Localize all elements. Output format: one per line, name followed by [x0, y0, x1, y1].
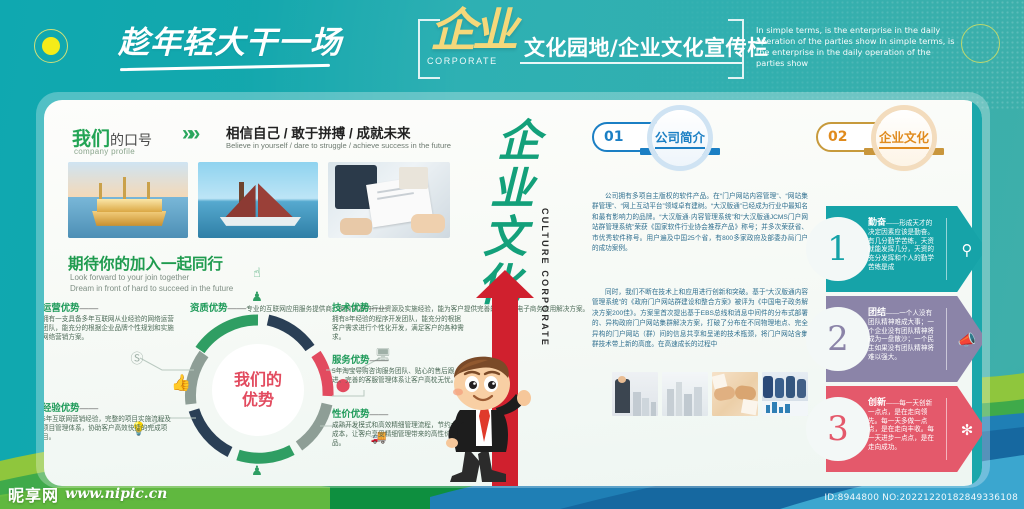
culture-body-2: 一个人没有团队精神难成大事；一个企业没有团队精神将成为一盘散沙；一个民主如果没有…: [868, 310, 934, 361]
chevron-right-icon: »»: [182, 122, 195, 146]
culture-body-1: 形成天才的决定因素应该是勤奋。有几分勤学苦练，天资就能发挥几分，天资的充分发挥和…: [868, 220, 934, 271]
handshake-photo: [712, 372, 758, 416]
advantages-center-label: 我们的 优势: [212, 344, 304, 436]
expect-subtitle: Look forward to your join together Dream…: [70, 272, 233, 294]
businessman-city-photo: [612, 372, 658, 416]
meeting-documents-photo: [328, 162, 450, 238]
search-icon: ⚲: [956, 239, 978, 261]
advantages-center-line1: 我们的: [234, 370, 282, 390]
culture-item-2: 2 团结——一个人没有团队精神难成大事；一个企业没有团队精神将成为一盘散沙；一个…: [806, 296, 982, 382]
advantage-service-dash: ——: [370, 354, 389, 365]
decor-ring-right: [961, 24, 1000, 63]
culture-item-3: 3 创新——每一天创新一点点，是在走向领先。每一天多做一点点，是在走向丰收。每一…: [806, 386, 982, 472]
businessman-mascot: [436, 350, 546, 486]
decor-dot-yellow: [42, 37, 60, 55]
golden-ship-photo: [68, 162, 188, 238]
slogan-headline: 相信自己 / 敢于拼搏 / 成就未来: [226, 122, 411, 142]
slogan-label-en: company profile: [74, 147, 135, 156]
culture-number-3: 3: [806, 397, 870, 461]
team-meeting-photo: [762, 372, 808, 416]
culture-dash-1: ——: [886, 220, 899, 227]
section01-title-badge: 公司简介: [652, 110, 708, 166]
image-id-tag: ID:8944800 NO:20221220182849336108: [824, 493, 1018, 503]
skyline-photo: [662, 372, 708, 416]
watermark: 昵享网 www.nipic.cn: [8, 483, 167, 505]
advantage-experience-dash: ——: [80, 402, 99, 413]
advantage-experience: 经验优势—— 5年互联网营销经验，完整的项目实施流程及项目管理体系，协助客户高效…: [44, 400, 174, 443]
people-icon: ♟: [248, 288, 266, 306]
bulb-gear-icon: ✻: [956, 419, 978, 441]
poster-canvas: 趁年轻大干一场 企业 CORPORATE 文化园地/企业文化宣传栏 In sim…: [0, 0, 1024, 509]
header-bracket-right: [742, 19, 744, 79]
header-brand-en: CORPORATE: [427, 56, 498, 66]
advantage-service-title-text: 服务优势: [332, 354, 370, 365]
vertical-char-2: 业: [466, 166, 558, 214]
content-panel: 我们的口号 company profile »» 相信自己 / 敢于拼搏 / 成…: [44, 100, 982, 486]
culture-body-3: 每一天创新一点点，是在走向领先。每一天多做一点点，是在走向丰收。每一天进步一点点…: [868, 400, 934, 451]
header-title: 文化园地/企业文化宣传栏: [524, 32, 769, 62]
culture-title-2: 团结: [868, 307, 886, 317]
culture-dash-2: ——: [886, 310, 899, 317]
slogan-headline-en: Believe in yourself / dare to struggle /…: [226, 141, 451, 150]
expect-en-line1: Look forward to your join together: [70, 272, 233, 283]
red-sail-ship-photo: [198, 162, 318, 238]
culture-text-3: 创新——每一天创新一点点，是在走向领先。每一天多做一点点，是在走向丰收。每一天进…: [868, 398, 938, 453]
section01-p1-text: 公司拥有多项自主版权的软件产品。在“门户网站内容管理”、“网站集群管理”、“网上…: [592, 192, 808, 254]
culture-text-2: 团结——一个人没有团队精神难成大事；一个企业没有团队精神将成为一盘散沙；一个民主…: [868, 308, 938, 363]
megaphone-icon: 📣: [956, 329, 978, 351]
header-rule: [520, 62, 742, 64]
watermark-url: www.nipic.cn: [65, 486, 167, 502]
advantage-operation-title: 运营优势——: [44, 300, 174, 314]
section01-title: 公司简介: [655, 127, 705, 149]
advantages-diagram: 我们的 优势 ♟ 👍 ⬤ ♟ ☝ Ⓢ 💡 🖥 🚚 运营优势—— 拥有一支具备多年…: [44, 296, 474, 481]
watermark-brand: 昵享网: [8, 482, 59, 506]
header-english-text: In simple terms, is the enterprise in th…: [756, 25, 956, 69]
group-icon: ♟: [248, 462, 266, 480]
expect-title: 期待你的加入一起同行: [68, 252, 223, 274]
section01-number: 01: [604, 129, 623, 145]
section02-title: 企业文化: [879, 127, 929, 149]
culture-text-1: 勤奋——形成天才的决定因素应该是勤奋。有几分勤学苦练，天资就能发挥几分，天资的充…: [868, 218, 938, 273]
culture-title-1: 勤奋: [868, 217, 886, 227]
culture-title-3: 创新: [868, 397, 886, 407]
culture-item-1: 1 勤奋——形成天才的决定因素应该是勤奋。有几分勤学苦练，天资就能发挥几分，天资…: [806, 206, 982, 292]
header-brand-cn: 企业: [430, 9, 538, 81]
culture-dash-3: ——: [886, 400, 899, 407]
section01-paragraph-2: 同时，我们不断在技术上和应用进行创新和突破。基于“大汉版通内容管理系统”的《政府…: [592, 288, 808, 357]
culture-number-1: 1: [806, 217, 870, 281]
advantage-operation-body: 拥有一支具备多年互联网从业经验的网络运营团队，能充分的根据企业品牌个性规划和实施…: [44, 315, 174, 343]
advantage-operation: 运营优势—— 拥有一支具备多年互联网从业经验的网络运营团队，能充分的根据企业品牌…: [44, 300, 174, 343]
advantage-operation-dash: ——: [80, 302, 99, 313]
culture-divider-2: [946, 308, 947, 370]
section01-photo-strip: [612, 372, 808, 416]
advantage-technology-dash: ——: [370, 302, 389, 313]
advantage-technology-title-text: 技术优势: [332, 302, 370, 313]
culture-divider-1: [946, 218, 947, 280]
center-vertical-title-en: CULTURE CORPORATE: [540, 208, 550, 347]
section01-paragraph-1: 公司拥有多项自主版权的软件产品。在“门户网站内容管理”、“网站集群管理”、“网上…: [592, 192, 808, 261]
advantage-value-dash: ——: [370, 408, 389, 419]
pointer-hand-icon: ☝: [248, 264, 266, 282]
advantage-operation-title-text: 运营优势: [44, 302, 80, 313]
expect-en-line2: Dream in front of hard to succeed in the…: [70, 283, 233, 294]
advantage-technology-body: 拥有8年经验的程序开发团队，能充分的根据客户需求进行个性化开发，满足客户的各种需…: [332, 315, 464, 343]
advantage-experience-title-text: 经验优势: [44, 402, 80, 413]
thumbs-up-icon: 👍: [172, 374, 190, 392]
advantages-center-line2: 优势: [242, 390, 274, 410]
advantage-experience-body: 5年互联网营销经验，完整的项目实施流程及项目管理体系，协助客户高效快捷的完成项目…: [44, 415, 174, 443]
culture-divider-3: [946, 398, 947, 460]
section01-p2-text: 同时，我们不断在技术上和应用进行创新和突破。基于“大汉版通内容管理系统”的《政府…: [592, 288, 808, 350]
advantage-experience-title: 经验优势——: [44, 400, 174, 414]
coin-icon: Ⓢ: [128, 348, 146, 366]
culture-number-2: 2: [806, 307, 870, 371]
advantage-value-title-text: 性价优势: [332, 408, 370, 419]
culture-number-2-text: 2: [827, 319, 849, 359]
culture-number-3-text: 3: [827, 409, 849, 449]
section02-number: 02: [828, 129, 847, 145]
vertical-char-1: 企: [480, 118, 558, 166]
section02-title-badge: 企业文化: [876, 110, 932, 166]
culture-number-1-text: 1: [827, 229, 849, 269]
